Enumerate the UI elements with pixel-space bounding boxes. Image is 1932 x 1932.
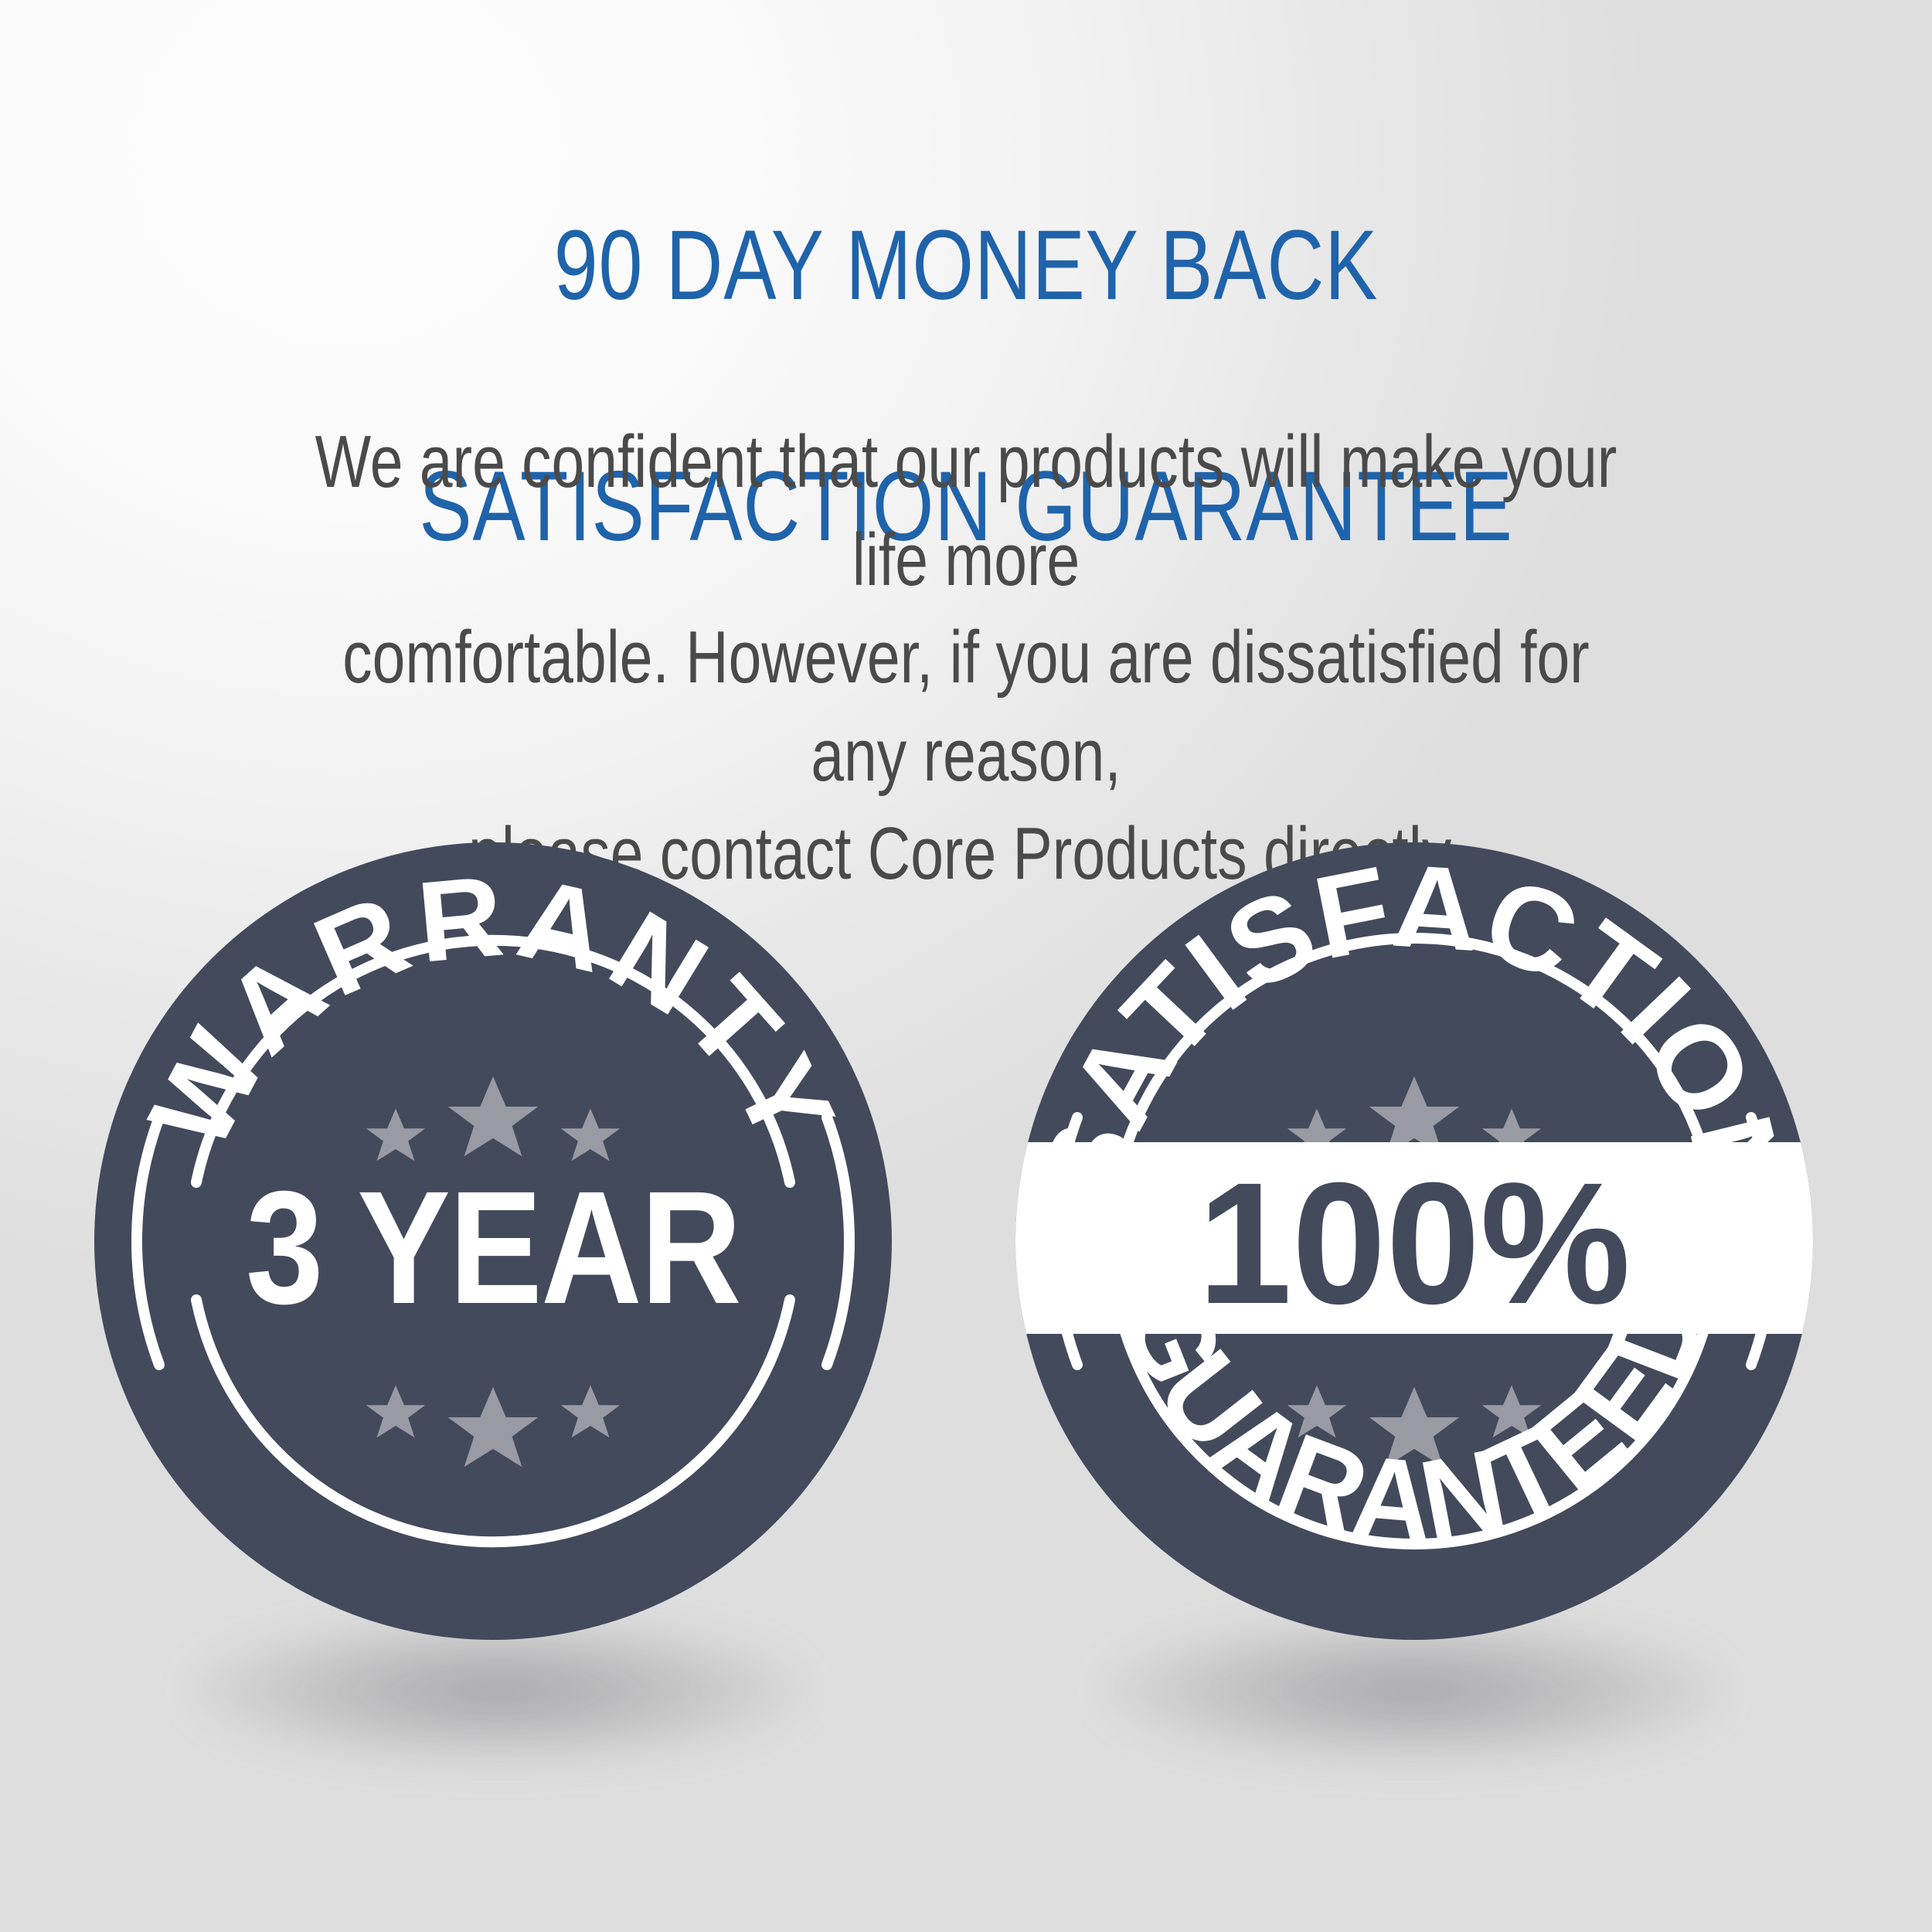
satisfaction-badge[interactable]: 100% SATISFACTION GUARANTEED [1012, 839, 1816, 1643]
warranty-center-label: 3 YEAR [246, 1158, 740, 1338]
guarantee-banner: 90 DAY MONEY BACK SATISFACTION GUARANTEE… [0, 0, 1932, 1932]
warranty-badge[interactable]: WARRANTY 3 YEAR [91, 839, 895, 1643]
satisfaction-center-label: 100% [1198, 1147, 1631, 1340]
badge-row: WARRANTY 3 YEAR [0, 0, 1932, 1932]
